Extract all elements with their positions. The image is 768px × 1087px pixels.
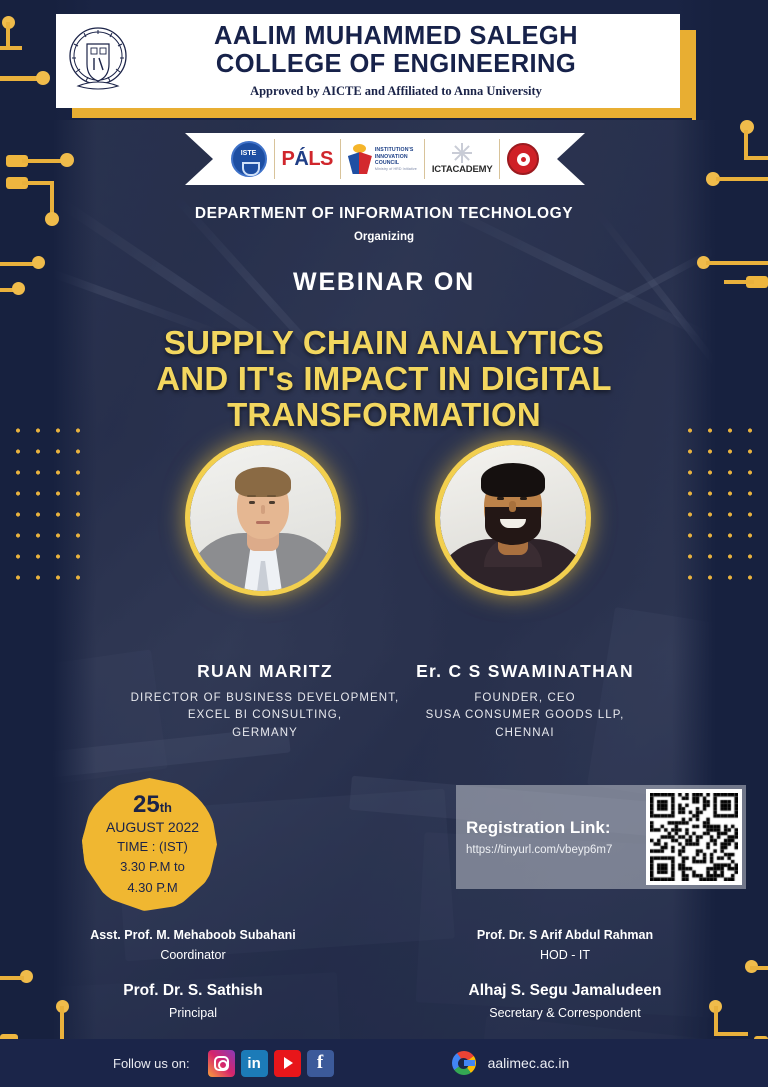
page-title: SUPPLY CHAIN ANALYTICS AND IT's IMPACT I… [40,325,728,433]
speaker-1-role: DIRECTOR OF BUSINESS DEVELOPMENT, EXCEL … [120,690,410,742]
dot-grid-right [680,420,760,592]
speaker-2-role: FOUNDER, CEO SUSA CONSUMER GOODS LLP, CH… [380,690,670,742]
speaker-1-role-line2: EXCEL BI CONSULTING, [120,707,410,724]
coordinator-role: Coordinator [48,948,338,962]
pals-logo-icon: PÁLS [275,139,341,179]
college-name-line2: COLLEGE OF ENGINEERING [136,51,656,79]
facebook-icon[interactable]: f [307,1050,334,1077]
principal-role: Principal [48,1006,338,1020]
webinar-on-label: WEBINAR ON [0,268,768,297]
speaker-1-name: RUAN MARITZ [120,661,410,682]
event-time-line1: 3.30 P.M to [120,858,185,876]
follow-us-label: Follow us on: [113,1056,190,1071]
iic-sub: Ministry of HRD Initiative [375,167,417,171]
iste-logo-icon [224,139,275,179]
speaker-2-role-line2: SUSA CONSUMER GOODS LLP, [380,707,670,724]
event-time-line2: 4.30 P.M [127,879,177,897]
registration-panel: Registration Link: https://tinyurl.com/v… [456,785,746,889]
coordinator-name: Asst. Prof. M. Mehaboob Subahani [48,928,338,942]
ict-academy-label: ICTACADEMY [432,164,493,175]
speaker-1-role-line1: DIRECTOR OF BUSINESS DEVELOPMENT, [120,690,410,707]
dot-grid-left [8,420,88,592]
footer-bar: Follow us on: in f aalimec.ac.in [0,1039,768,1087]
event-day-suffix: th [160,800,172,815]
college-header: AALIM MUHAMMED SALEGH COLLEGE OF ENGINEE… [56,14,680,108]
qr-code-icon[interactable] [646,789,742,885]
event-day-number: 25 [133,791,160,818]
speaker-2-name: Er. C S SWAMINATHAN [380,661,670,682]
hod-name: Prof. Dr. S Arif Abdul Rahman [400,928,730,942]
college-name-line1: AALIM MUHAMMED SALEGH [136,23,656,51]
ict-academy-logo-icon: ICTACADEMY [425,139,501,179]
faculty-credits-left: Asst. Prof. M. Mehaboob Subahani Coordin… [48,928,338,1020]
registration-link[interactable]: https://tinyurl.com/vbeyp6m7 [466,844,646,856]
google-icon [452,1051,476,1075]
secretary-name: Alhaj S. Segu Jamaludeen [400,982,730,1000]
youtube-icon[interactable] [274,1050,301,1077]
faculty-credits-right: Prof. Dr. S Arif Abdul Rahman HOD - IT A… [400,928,730,1020]
title-line-2: AND IT's IMPACT IN DIGITAL [40,361,728,397]
speaker-2-role-line3: CHENNAI [380,725,670,742]
red-circle-logo-icon [500,139,546,179]
linkedin-icon[interactable]: in [241,1050,268,1077]
partner-logos-ribbon: PÁLS INSTITUTION'S INNOVATION COUNCIL Mi… [185,133,585,185]
speaker-1-role-line3: GERMANY [120,725,410,742]
speaker-photo-ruan-maritz [190,445,336,591]
event-day: 25th [133,793,172,817]
social-links: in f [208,1050,334,1077]
hod-role: HOD - IT [400,948,730,962]
department-title: DEPARTMENT OF INFORMATION TECHNOLOGY [0,205,768,223]
speaker-2-role-line1: FOUNDER, CEO [380,690,670,707]
title-line-3: TRANSFORMATION [40,397,728,433]
iic-logo-icon: INSTITUTION'S INNOVATION COUNCIL Ministr… [341,139,425,179]
iic-line1: INSTITUTION'S [375,147,417,154]
organizing-label: Organizing [0,231,768,243]
principal-name: Prof. Dr. S. Sathish [48,982,338,1000]
title-line-1: SUPPLY CHAIN ANALYTICS [40,325,728,361]
college-crest-icon [66,24,130,98]
speaker-photo-c-s-swaminathan [440,445,586,591]
instagram-icon[interactable] [208,1050,235,1077]
college-approval-text: Approved by AICTE and Affiliated to Anna… [136,84,656,99]
event-month-year: AUGUST 2022 [106,819,199,835]
secretary-role: Secretary & Correspondent [400,1006,730,1020]
facebook-glyph: f [317,1052,323,1074]
website-url: aalimec.ac.in [488,1055,570,1071]
linkedin-glyph: in [247,1055,260,1072]
webinar-poster: AALIM MUHAMMED SALEGH COLLEGE OF ENGINEE… [0,0,768,1087]
website-link[interactable]: aalimec.ac.in [452,1051,570,1075]
registration-title: Registration Link: [466,818,646,838]
event-time-label: TIME : (IST) [117,838,188,856]
